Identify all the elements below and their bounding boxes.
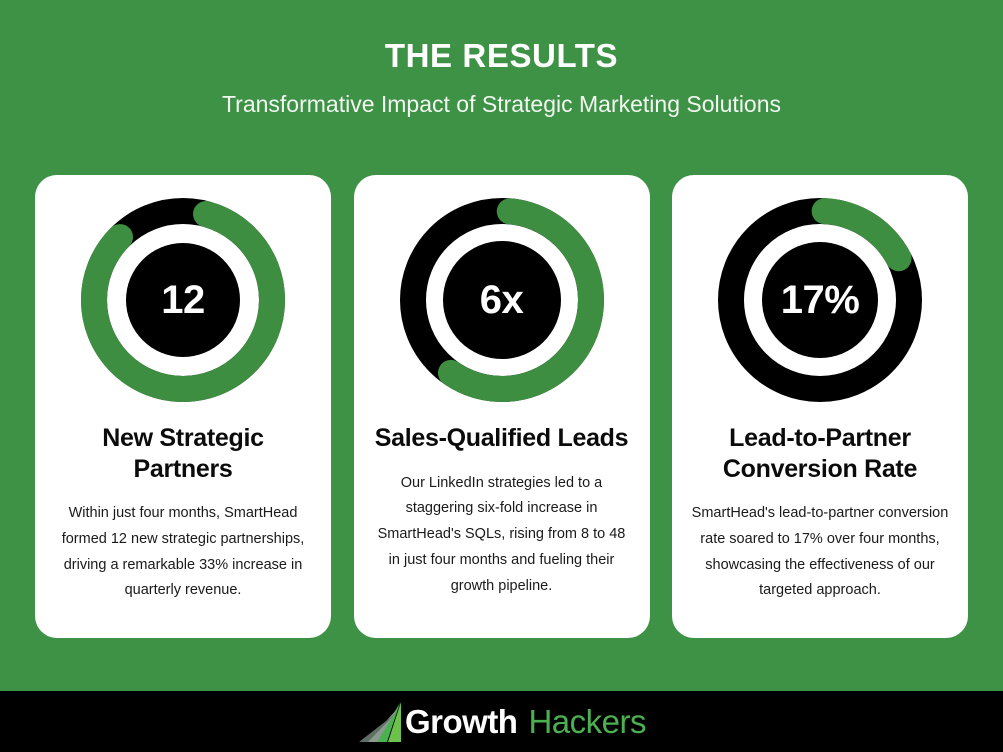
brand-logo-primary: Growth xyxy=(405,705,517,738)
ascending-chart-arrow-icon xyxy=(357,700,403,744)
donut-value-conversion: 17% xyxy=(717,197,923,403)
donut-chart-leads: 6x xyxy=(399,197,605,403)
donut-value-leads: 6x xyxy=(399,197,605,403)
donut-value-partners: 12 xyxy=(80,197,286,403)
infographic-page: THE RESULTS Transformative Impact of Str… xyxy=(0,0,1003,752)
card-body-leads: Our LinkedIn strategies led to a stagger… xyxy=(372,471,632,600)
page-title: THE RESULTS xyxy=(0,38,1003,74)
footer-bar: Growth Hackers xyxy=(0,691,1003,752)
card-heading-conversion: Lead-to-Partner Conversion Rate xyxy=(690,423,950,484)
card-heading-partners: New Strategic Partners xyxy=(53,423,313,484)
card-heading-leads: Sales-Qualified Leads xyxy=(375,423,629,454)
donut-chart-partners: 12 xyxy=(80,197,286,403)
donut-chart-conversion: 17% xyxy=(717,197,923,403)
result-card-new-strategic-partners: 12 New Strategic Partners Within just fo… xyxy=(35,175,331,638)
brand-logo: Growth Hackers xyxy=(357,700,646,744)
result-card-sales-qualified-leads: 6x Sales-Qualified Leads Our LinkedIn st… xyxy=(354,175,650,638)
brand-logo-secondary: Hackers xyxy=(528,705,646,738)
brand-logo-text: Growth Hackers xyxy=(405,705,646,738)
result-card-conversion-rate: 17% Lead-to-Partner Conversion Rate Smar… xyxy=(672,175,968,638)
page-subtitle: Transformative Impact of Strategic Marke… xyxy=(0,91,1003,119)
card-body-partners: Within just four months, SmartHead forme… xyxy=(53,501,313,604)
card-body-conversion: SmartHead's lead-to-partner conversion r… xyxy=(690,501,950,604)
results-card-group: 12 New Strategic Partners Within just fo… xyxy=(35,175,968,638)
header: THE RESULTS Transformative Impact of Str… xyxy=(0,0,1003,119)
